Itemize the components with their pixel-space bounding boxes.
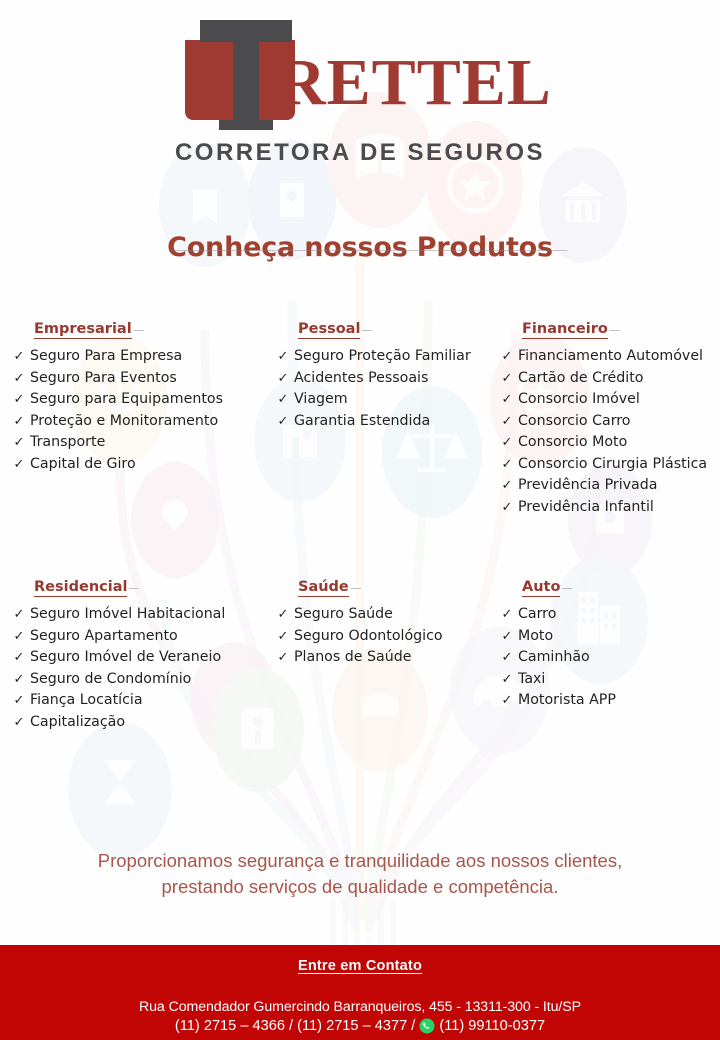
list-item: ✓Financiamento Automóvel bbox=[496, 346, 718, 368]
list-item-label: Seguro para Equipamentos bbox=[30, 389, 223, 411]
list-item: ✓Capital de Giro bbox=[8, 454, 263, 476]
list-item: ✓Garantia Estendida bbox=[272, 411, 487, 433]
check-icon: ✓ bbox=[496, 346, 518, 368]
list-item: ✓Seguro Apartamento bbox=[8, 626, 263, 648]
list-item-label: Seguro Proteção Familiar bbox=[294, 346, 471, 368]
phone-landlines[interactable]: (11) 2715 – 4366 / (11) 2715 – 4377 / bbox=[175, 1018, 415, 1034]
list-item: ✓Seguro de Condomínio bbox=[8, 669, 263, 691]
check-icon: ✓ bbox=[272, 647, 294, 669]
list-item-label: Seguro Saúde bbox=[294, 604, 393, 626]
page-title-text: Conheça nossos Produtos bbox=[167, 232, 553, 263]
footer-address: Rua Comendador Gumercindo Barranqueiros,… bbox=[0, 999, 720, 1015]
list-item-label: Previdência Privada bbox=[518, 475, 657, 497]
list-item: ✓Previdência Infantil bbox=[496, 497, 718, 519]
list-item: ✓Motorista APP bbox=[496, 690, 718, 712]
check-icon: ✓ bbox=[496, 454, 518, 476]
list-item-label: Seguro Odontológico bbox=[294, 626, 443, 648]
product-row-bottom: Residencial ✓Seguro Imóvel Habitacional … bbox=[0, 578, 720, 758]
logo-t-foot bbox=[219, 120, 273, 130]
category-title: Saúde bbox=[298, 579, 349, 597]
list-item-label: Planos de Saúde bbox=[294, 647, 411, 669]
list-item: ✓Seguro Odontológico bbox=[272, 626, 487, 648]
list-item-label: Previdência Infantil bbox=[518, 497, 654, 519]
list-item-label: Financiamento Automóvel bbox=[518, 346, 703, 368]
list-item-label: Seguro Apartamento bbox=[30, 626, 178, 648]
check-icon: ✓ bbox=[496, 690, 518, 712]
category-title: Residencial bbox=[34, 579, 127, 597]
list-item-label: Fiança Locatícia bbox=[30, 690, 143, 712]
list-item-label: Acidentes Pessoais bbox=[294, 368, 428, 390]
check-icon: ✓ bbox=[8, 690, 30, 712]
list-item-label: Seguro Para Empresa bbox=[30, 346, 182, 368]
category-item-list: ✓Seguro Proteção Familiar ✓Acidentes Pes… bbox=[272, 346, 487, 432]
check-icon: ✓ bbox=[8, 454, 30, 476]
category-title: Financeiro bbox=[522, 321, 608, 339]
logo-subtitle: CORRETORA DE SEGUROS bbox=[0, 139, 720, 167]
list-item: ✓Consorcio Moto bbox=[496, 432, 718, 454]
list-item-label: Seguro Imóvel Habitacional bbox=[30, 604, 225, 626]
check-icon: ✓ bbox=[8, 432, 30, 454]
check-icon: ✓ bbox=[496, 626, 518, 648]
category-title: Empresarial bbox=[34, 321, 132, 339]
list-item: ✓Seguro Imóvel de Veraneio bbox=[8, 647, 263, 669]
list-item-label: Viagem bbox=[294, 389, 348, 411]
list-item: ✓Capitalização bbox=[8, 712, 263, 734]
whatsapp-icon[interactable] bbox=[419, 1018, 435, 1034]
list-item: ✓Cartão de Crédito bbox=[496, 368, 718, 390]
brand-logo: RETTEL CORRETORA DE SEGUROS bbox=[0, 14, 720, 167]
flyer-page: RETTEL CORRETORA DE SEGUROS Conheça noss… bbox=[0, 0, 720, 1040]
list-item: ✓Transporte bbox=[8, 432, 263, 454]
list-item: ✓Consorcio Carro bbox=[496, 411, 718, 433]
list-item-label: Proteção e Monitoramento bbox=[30, 411, 218, 433]
check-icon: ✓ bbox=[272, 604, 294, 626]
category-pessoal: Pessoal ✓Seguro Proteção Familiar ✓Acide… bbox=[272, 320, 487, 432]
list-item: ✓Caminhão bbox=[496, 647, 718, 669]
footer-phones: (11) 2715 – 4366 / (11) 2715 – 4377 / (1… bbox=[0, 1018, 720, 1034]
contact-footer: Entre em Contato Rua Comendador Gumercin… bbox=[0, 945, 720, 1040]
check-icon: ✓ bbox=[8, 712, 30, 734]
list-item-label: Capitalização bbox=[30, 712, 125, 734]
page-title: Conheça nossos Produtos bbox=[0, 232, 720, 263]
check-icon: ✓ bbox=[272, 626, 294, 648]
list-item: ✓Taxi bbox=[496, 669, 718, 691]
check-icon: ✓ bbox=[8, 411, 30, 433]
check-icon: ✓ bbox=[272, 411, 294, 433]
list-item-label: Carro bbox=[518, 604, 556, 626]
check-icon: ✓ bbox=[496, 368, 518, 390]
check-icon: ✓ bbox=[272, 368, 294, 390]
list-item-label: Consorcio Imóvel bbox=[518, 389, 640, 411]
category-item-list: ✓Carro ✓Moto ✓Caminhão ✓Taxi ✓Motorista … bbox=[496, 604, 718, 712]
list-item-label: Consorcio Moto bbox=[518, 432, 627, 454]
check-icon: ✓ bbox=[496, 497, 518, 519]
logo-wordmark: RETTEL bbox=[278, 50, 552, 116]
category-title: Auto bbox=[522, 579, 560, 597]
check-icon: ✓ bbox=[496, 389, 518, 411]
category-residencial: Residencial ✓Seguro Imóvel Habitacional … bbox=[8, 578, 263, 733]
list-item: ✓Consorcio Cirurgia Plástica bbox=[496, 454, 718, 476]
list-item: ✓Seguro para Equipamentos bbox=[8, 389, 263, 411]
check-icon: ✓ bbox=[496, 432, 518, 454]
list-item: ✓Viagem bbox=[272, 389, 487, 411]
list-item-label: Consorcio Carro bbox=[518, 411, 631, 433]
check-icon: ✓ bbox=[496, 647, 518, 669]
footer-title: Entre em Contato bbox=[0, 958, 720, 974]
list-item: ✓Planos de Saúde bbox=[272, 647, 487, 669]
list-item-label: Moto bbox=[518, 626, 553, 648]
list-item-label: Seguro Imóvel de Veraneio bbox=[30, 647, 221, 669]
check-icon: ✓ bbox=[496, 669, 518, 691]
logo-t-stem bbox=[233, 40, 259, 130]
check-icon: ✓ bbox=[8, 626, 30, 648]
check-icon: ✓ bbox=[496, 475, 518, 497]
list-item-label: Garantia Estendida bbox=[294, 411, 430, 433]
category-item-list: ✓Seguro Para Empresa ✓Seguro Para Evento… bbox=[8, 346, 263, 475]
check-icon: ✓ bbox=[8, 368, 30, 390]
list-item: ✓Previdência Privada bbox=[496, 475, 718, 497]
category-saude: Saúde ✓Seguro Saúde ✓Seguro Odontológico… bbox=[272, 578, 487, 669]
logo-t-bar bbox=[200, 20, 292, 42]
list-item-label: Seguro de Condomínio bbox=[30, 669, 191, 691]
list-item-label: Consorcio Cirurgia Plástica bbox=[518, 454, 707, 476]
list-item-label: Seguro Para Eventos bbox=[30, 368, 177, 390]
list-item-label: Caminhão bbox=[518, 647, 590, 669]
category-auto: Auto ✓Carro ✓Moto ✓Caminhão ✓Taxi ✓Motor… bbox=[496, 578, 718, 712]
list-item-label: Cartão de Crédito bbox=[518, 368, 643, 390]
category-title: Pessoal bbox=[298, 321, 360, 339]
check-icon: ✓ bbox=[8, 669, 30, 691]
category-item-list: ✓Seguro Imóvel Habitacional ✓Seguro Apar… bbox=[8, 604, 263, 733]
tagline: Proporcionamos segurança e tranquilidade… bbox=[60, 848, 660, 900]
check-icon: ✓ bbox=[272, 346, 294, 368]
list-item: ✓Proteção e Monitoramento bbox=[8, 411, 263, 433]
list-item: ✓Carro bbox=[496, 604, 718, 626]
product-row-top: Empresarial ✓Seguro Para Empresa ✓Seguro… bbox=[0, 320, 720, 570]
list-item: ✓Seguro Para Eventos bbox=[8, 368, 263, 390]
list-item: ✓Fiança Locatícia bbox=[8, 690, 263, 712]
check-icon: ✓ bbox=[8, 647, 30, 669]
category-item-list: ✓Seguro Saúde ✓Seguro Odontológico ✓Plan… bbox=[272, 604, 487, 669]
list-item: ✓Seguro Imóvel Habitacional bbox=[8, 604, 263, 626]
list-item: ✓Acidentes Pessoais bbox=[272, 368, 487, 390]
list-item: ✓Moto bbox=[496, 626, 718, 648]
check-icon: ✓ bbox=[496, 604, 518, 626]
logo-mark: RETTEL bbox=[170, 14, 550, 132]
check-icon: ✓ bbox=[8, 389, 30, 411]
list-item: ✓Consorcio Imóvel bbox=[496, 389, 718, 411]
category-empresarial: Empresarial ✓Seguro Para Empresa ✓Seguro… bbox=[8, 320, 263, 475]
flyer-content: RETTEL CORRETORA DE SEGUROS Conheça noss… bbox=[0, 0, 720, 1040]
check-icon: ✓ bbox=[8, 604, 30, 626]
list-item-label: Capital de Giro bbox=[30, 454, 136, 476]
check-icon: ✓ bbox=[496, 411, 518, 433]
product-grid: Empresarial ✓Seguro Para Empresa ✓Seguro… bbox=[0, 320, 720, 758]
check-icon: ✓ bbox=[272, 389, 294, 411]
check-icon: ✓ bbox=[8, 346, 30, 368]
list-item-label: Transporte bbox=[30, 432, 105, 454]
list-item: ✓Seguro Proteção Familiar bbox=[272, 346, 487, 368]
list-item-label: Taxi bbox=[518, 669, 545, 691]
list-item: ✓Seguro Para Empresa bbox=[8, 346, 263, 368]
list-item-label: Motorista APP bbox=[518, 690, 616, 712]
category-financeiro: Financeiro ✓Financiamento Automóvel ✓Car… bbox=[496, 320, 718, 518]
category-item-list: ✓Financiamento Automóvel ✓Cartão de Créd… bbox=[496, 346, 718, 518]
list-item: ✓Seguro Saúde bbox=[272, 604, 487, 626]
phone-whatsapp[interactable]: (11) 99110-0377 bbox=[439, 1018, 545, 1034]
